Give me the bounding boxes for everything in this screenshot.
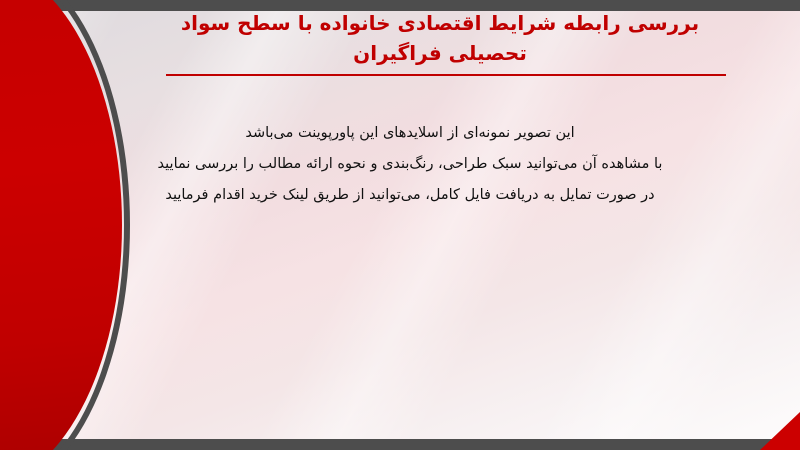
presentation-slide: بررسی رابطه شرایط اقتصادی خانواده با سطح… bbox=[0, 0, 800, 450]
body-line-3: در صورت تمایل به دریافت فایل کامل، می‌تو… bbox=[120, 180, 700, 211]
slide-title: بررسی رابطه شرایط اقتصادی خانواده با سطح… bbox=[120, 8, 760, 76]
slide-body: این تصویر نمونه‌ای از اسلایدهای این پاور… bbox=[120, 118, 700, 211]
body-line-1: این تصویر نمونه‌ای از اسلایدهای این پاور… bbox=[120, 118, 700, 149]
title-underline-rule bbox=[166, 74, 726, 76]
title-line-2: تحصیلی فراگیران bbox=[120, 38, 760, 68]
body-line-2: با مشاهده آن می‌توانید سبک طراحی، رنگ‌بن… bbox=[120, 149, 700, 180]
bottom-right-red-triangle-shape bbox=[760, 412, 800, 450]
title-line-1: بررسی رابطه شرایط اقتصادی خانواده با سطح… bbox=[120, 8, 760, 38]
